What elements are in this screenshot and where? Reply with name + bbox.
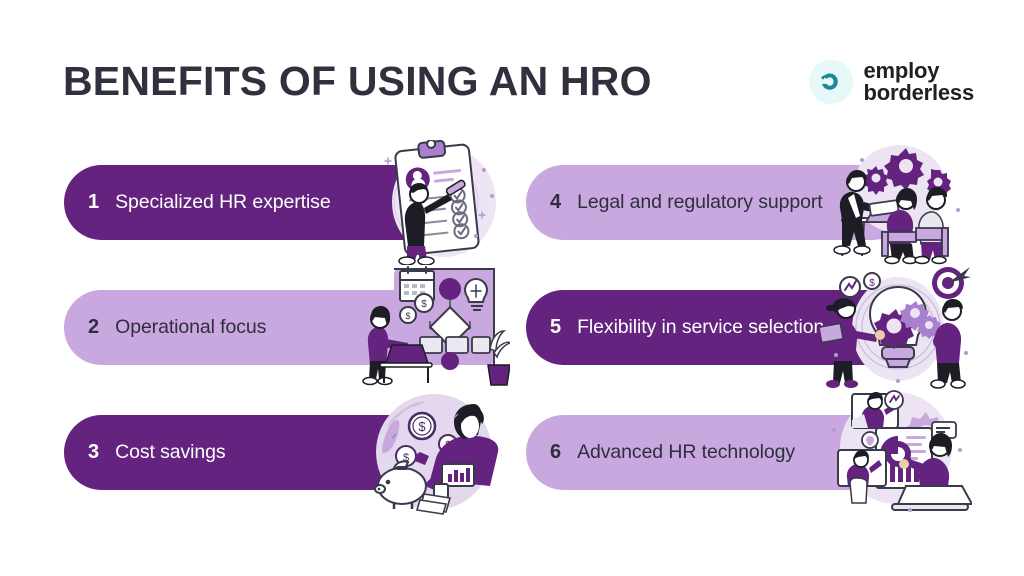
benefit-pill-5[interactable]: 5 Flexibility in service selection — [526, 290, 910, 365]
benefit-item-5: 5 Flexibility in service selection — [526, 265, 972, 390]
brand-name-line-2: borderless — [864, 82, 975, 104]
benefit-item-3: 3 Cost savings $ — [64, 390, 510, 515]
benefit-item-2: 2 Operational focus — [64, 265, 510, 390]
benefits-grid: 1 Specialized HR expertise — [0, 140, 1024, 540]
benefit-item-1: 1 Specialized HR expertise — [64, 140, 510, 265]
employ-borderless-e-icon — [809, 60, 853, 104]
benefit-label-1: Specialized HR expertise — [115, 192, 330, 214]
svg-text:$: $ — [869, 278, 875, 289]
benefit-pill-6[interactable]: 6 Advanced HR technology — [526, 415, 910, 490]
brand-logo: employ borderless — [809, 60, 975, 105]
benefit-number-2: 2 — [88, 316, 99, 339]
benefit-number-3: 3 — [88, 441, 99, 464]
header: BENEFITS OF USING AN HRO employ borderle… — [0, 0, 1024, 140]
benefit-label-2: Operational focus — [115, 317, 266, 339]
benefit-label-3: Cost savings — [115, 442, 225, 464]
benefit-item-4: 4 Legal and regulatory support — [526, 140, 972, 265]
benefit-number-1: 1 — [88, 191, 99, 214]
brand-name-line-1: employ — [864, 60, 975, 82]
benefit-number-6: 6 — [550, 441, 561, 464]
benefit-pill-3[interactable]: 3 Cost savings — [64, 415, 448, 490]
infographic-poster: BENEFITS OF USING AN HRO employ borderle… — [0, 0, 1024, 576]
benefit-label-5: Flexibility in service selection — [577, 317, 824, 339]
page-title: BENEFITS OF USING AN HRO — [63, 58, 652, 105]
benefit-pill-4[interactable]: 4 Legal and regulatory support — [526, 165, 910, 240]
benefit-item-6: 6 Advanced HR technology — [526, 390, 972, 515]
benefit-number-5: 5 — [550, 316, 561, 339]
benefit-number-4: 4 — [550, 191, 561, 214]
brand-wordmark: employ borderless — [864, 60, 975, 105]
benefit-label-6: Advanced HR technology — [577, 442, 795, 464]
benefit-pill-2[interactable]: 2 Operational focus — [64, 290, 448, 365]
benefit-pill-1[interactable]: 1 Specialized HR expertise — [64, 165, 448, 240]
benefit-label-4: Legal and regulatory support — [577, 192, 822, 214]
